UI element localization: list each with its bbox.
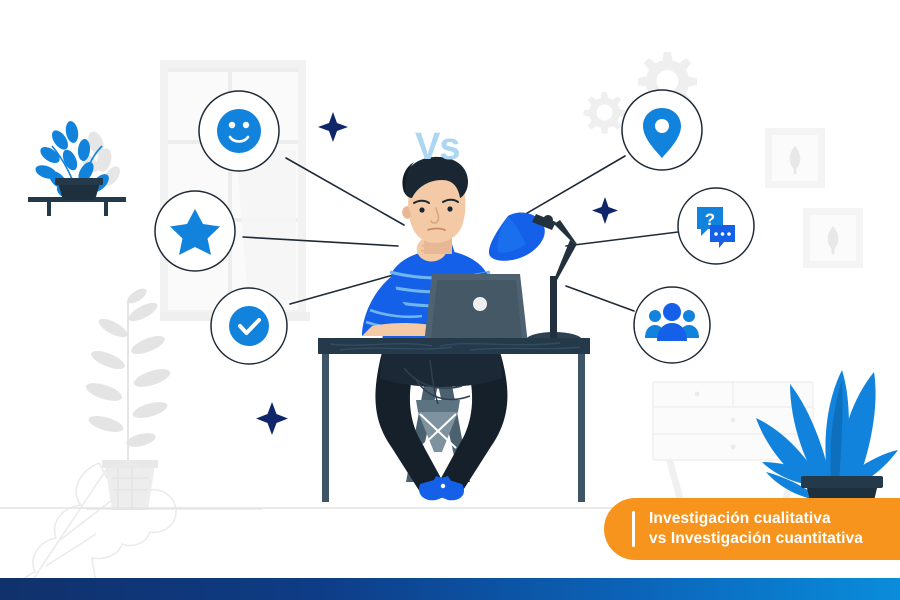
- svg-text:?: ?: [705, 210, 715, 229]
- banner-line-2: vs Investigación cuantitativa: [649, 529, 863, 549]
- banner-line-1: Investigación cualitativa: [649, 509, 863, 529]
- chat-question-icon[interactable]: ?: [678, 188, 754, 264]
- star-icon[interactable]: [155, 191, 235, 271]
- picture-frame-upper: [765, 128, 825, 188]
- picture-frame-lower: [803, 208, 863, 268]
- smiley-icon[interactable]: [199, 91, 279, 171]
- people-group-icon[interactable]: [634, 287, 710, 363]
- title-banner: Investigación cualitativa vs Investigaci…: [604, 498, 900, 560]
- bottom-accent-bar: [0, 578, 900, 600]
- vs-label: Vs: [415, 126, 459, 169]
- gear-icon-small: [584, 92, 626, 134]
- illustration-canvas: ? Vs Investigación cualitativa vs Invest…: [0, 0, 900, 600]
- banner-divider: [632, 511, 635, 547]
- location-pin-icon[interactable]: [622, 90, 702, 170]
- banner-text: Investigación cualitativa vs Investigaci…: [649, 509, 863, 549]
- check-circle-icon[interactable]: [211, 288, 287, 364]
